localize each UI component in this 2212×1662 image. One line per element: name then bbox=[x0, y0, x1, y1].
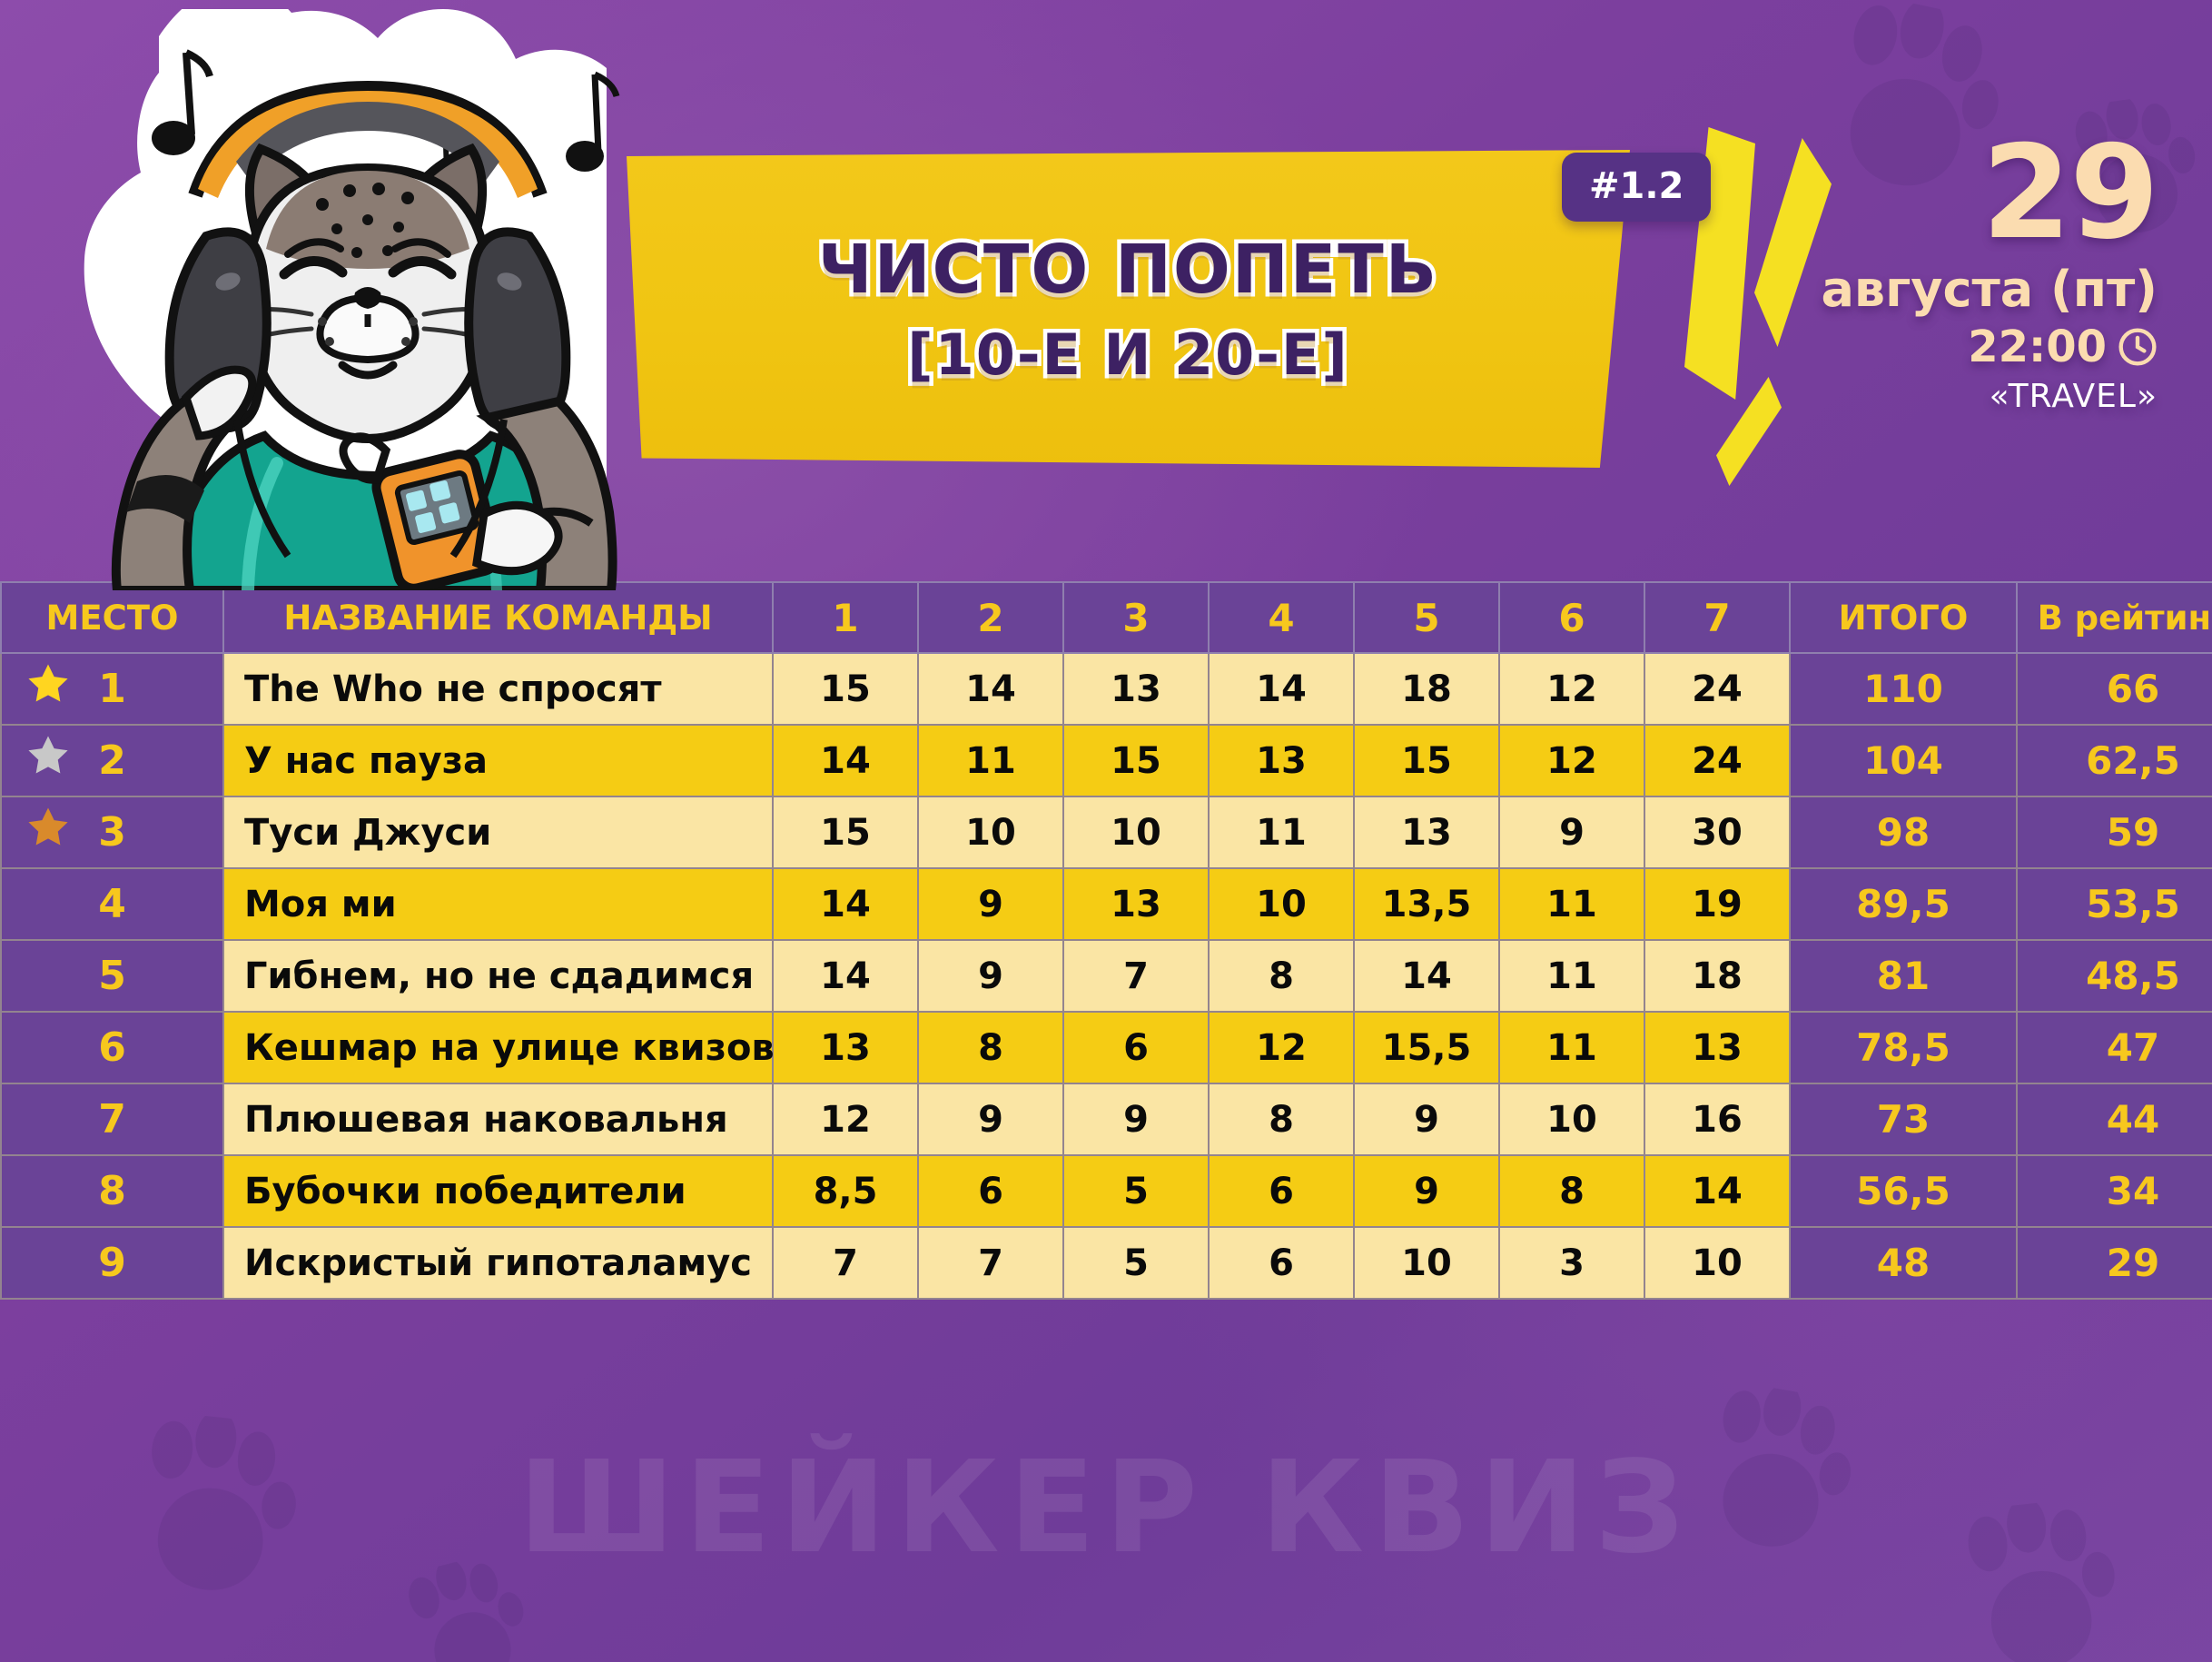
cell-total: 48 bbox=[1790, 1227, 2017, 1299]
cell-round-6-score: 3 bbox=[1499, 1227, 1644, 1299]
cell-round-3-score: 5 bbox=[1063, 1155, 1209, 1227]
cell-team-name: Плюшевая наковальня bbox=[223, 1083, 773, 1155]
cell-total: 56,5 bbox=[1790, 1155, 2017, 1227]
cell-round-1-score: 8,5 bbox=[773, 1155, 918, 1227]
cell-round-7-score: 18 bbox=[1644, 940, 1790, 1012]
table-header: МЕСТО НАЗВАНИЕ КОМАНДЫ 1 2 3 4 5 6 7 ИТО… bbox=[1, 582, 2212, 653]
cell-team-name: Кешмар на улице квизов bbox=[223, 1012, 773, 1083]
cell-round-6-score: 11 bbox=[1499, 1012, 1644, 1083]
cell-round-3-score: 13 bbox=[1063, 653, 1209, 725]
event-day: 29 bbox=[1821, 132, 2158, 255]
cell-round-5-score: 14 bbox=[1354, 940, 1499, 1012]
cell-round-3-score: 7 bbox=[1063, 940, 1209, 1012]
cell-round-3-score: 6 bbox=[1063, 1012, 1209, 1083]
event-time-row: 22:00 bbox=[1821, 322, 2158, 372]
poster-header: ЧИСТО ПОПЕТЬ [10-Е И 20-Е] #1.2 29 авгус… bbox=[0, 0, 2212, 581]
event-date-block: 29 августа (пт) 22:00 «TRAVEL» bbox=[1821, 132, 2158, 415]
page-title: ЧИСТО ПОПЕТЬ bbox=[818, 231, 1438, 309]
col-header-rating: В рейтинг bbox=[2017, 582, 2212, 653]
cell-round-7-score: 19 bbox=[1644, 868, 1790, 940]
place-number: 7 bbox=[98, 1096, 126, 1143]
cell-round-4-score: 10 bbox=[1209, 868, 1354, 940]
cell-round-6-score: 12 bbox=[1499, 725, 1644, 796]
cell-round-4-score: 8 bbox=[1209, 1083, 1354, 1155]
col-header-round-6: 6 bbox=[1499, 582, 1644, 653]
cell-round-1-score: 14 bbox=[773, 868, 918, 940]
cell-rating: 29 bbox=[2017, 1227, 2212, 1299]
header-row: МЕСТО НАЗВАНИЕ КОМАНДЫ 1 2 3 4 5 6 7 ИТО… bbox=[1, 582, 2212, 653]
place-number: 3 bbox=[98, 809, 126, 856]
col-header-team: НАЗВАНИЕ КОМАНДЫ bbox=[223, 582, 773, 653]
cell-round-5-score: 15,5 bbox=[1354, 1012, 1499, 1083]
cell-total: 89,5 bbox=[1790, 868, 2017, 940]
place-number: 8 bbox=[98, 1168, 126, 1214]
event-time: 22:00 bbox=[1968, 322, 2107, 372]
cell-total: 81 bbox=[1790, 940, 2017, 1012]
cell-round-4-score: 11 bbox=[1209, 796, 1354, 868]
table-row: 3Туси Джуси15101011139309859 bbox=[1, 796, 2212, 868]
col-header-total: ИТОГО bbox=[1790, 582, 2017, 653]
cell-round-7-score: 14 bbox=[1644, 1155, 1790, 1227]
cell-round-2-score: 7 bbox=[918, 1227, 1063, 1299]
cell-place: 5 bbox=[1, 940, 223, 1012]
cell-team-name: Бубочки победители bbox=[223, 1155, 773, 1227]
cell-round-1-score: 14 bbox=[773, 725, 918, 796]
cell-place: 6 bbox=[1, 1012, 223, 1083]
cell-team-name: Искристый гипоталамус bbox=[223, 1227, 773, 1299]
cell-round-6-score: 9 bbox=[1499, 796, 1644, 868]
table-row: 7Плюшевая наковальня12998910167344 bbox=[1, 1083, 2212, 1155]
title-banner-content: ЧИСТО ПОПЕТЬ [10-Е И 20-Е] bbox=[627, 150, 1630, 468]
cell-round-5-score: 9 bbox=[1354, 1155, 1499, 1227]
cell-round-5-score: 15 bbox=[1354, 725, 1499, 796]
cell-round-1-score: 7 bbox=[773, 1227, 918, 1299]
col-header-round-3: 3 bbox=[1063, 582, 1209, 653]
table-row: 6Кешмар на улице квизов13861215,5111378,… bbox=[1, 1012, 2212, 1083]
table-body: 1The Who не спросят15141314181224110662У… bbox=[1, 653, 2212, 1299]
cell-team-name: The Who не спросят bbox=[223, 653, 773, 725]
place-number: 1 bbox=[98, 666, 126, 712]
cell-round-4-score: 8 bbox=[1209, 940, 1354, 1012]
cell-total: 110 bbox=[1790, 653, 2017, 725]
event-month: августа (пт) bbox=[1821, 261, 2158, 318]
cell-rating: 53,5 bbox=[2017, 868, 2212, 940]
cell-round-7-score: 10 bbox=[1644, 1227, 1790, 1299]
game-number-badge: #1.2 bbox=[1562, 153, 1711, 222]
clock-icon bbox=[2118, 327, 2158, 367]
cell-team-name: У нас пауза bbox=[223, 725, 773, 796]
cell-round-7-score: 13 bbox=[1644, 1012, 1790, 1083]
cell-round-5-score: 9 bbox=[1354, 1083, 1499, 1155]
cell-round-2-score: 9 bbox=[918, 940, 1063, 1012]
place-number: 4 bbox=[98, 881, 126, 927]
cell-round-7-score: 30 bbox=[1644, 796, 1790, 868]
cat-mascot-icon bbox=[50, 9, 686, 590]
cell-place: 1 bbox=[1, 653, 223, 725]
place-number: 6 bbox=[98, 1024, 126, 1071]
cell-round-3-score: 10 bbox=[1063, 796, 1209, 868]
cell-round-2-score: 6 bbox=[918, 1155, 1063, 1227]
cell-round-3-score: 9 bbox=[1063, 1083, 1209, 1155]
cell-place: 3 bbox=[1, 796, 223, 868]
medal-star-icon bbox=[24, 803, 73, 862]
cell-round-2-score: 11 bbox=[918, 725, 1063, 796]
cell-round-5-score: 13,5 bbox=[1354, 868, 1499, 940]
medal-star-icon bbox=[24, 731, 73, 790]
cell-round-1-score: 13 bbox=[773, 1012, 918, 1083]
cell-place: 7 bbox=[1, 1083, 223, 1155]
cell-round-6-score: 10 bbox=[1499, 1083, 1644, 1155]
cell-round-6-score: 12 bbox=[1499, 653, 1644, 725]
cell-total: 78,5 bbox=[1790, 1012, 2017, 1083]
cell-team-name: Туси Джуси bbox=[223, 796, 773, 868]
place-number: 2 bbox=[98, 737, 126, 784]
cell-round-4-score: 6 bbox=[1209, 1227, 1354, 1299]
cell-round-2-score: 8 bbox=[918, 1012, 1063, 1083]
cell-round-5-score: 18 bbox=[1354, 653, 1499, 725]
col-header-round-7: 7 bbox=[1644, 582, 1790, 653]
cell-rating: 62,5 bbox=[2017, 725, 2212, 796]
cell-rating: 47 bbox=[2017, 1012, 2212, 1083]
cell-total: 73 bbox=[1790, 1083, 2017, 1155]
col-header-round-1: 1 bbox=[773, 582, 918, 653]
col-header-place: МЕСТО bbox=[1, 582, 223, 653]
cell-round-3-score: 15 bbox=[1063, 725, 1209, 796]
cell-place: 8 bbox=[1, 1155, 223, 1227]
cell-round-7-score: 24 bbox=[1644, 653, 1790, 725]
cell-place: 4 bbox=[1, 868, 223, 940]
cell-round-6-score: 11 bbox=[1499, 940, 1644, 1012]
cell-team-name: Гибнем, но не сдадимся bbox=[223, 940, 773, 1012]
table-row: 1The Who не спросят1514131418122411066 bbox=[1, 653, 2212, 725]
cell-round-5-score: 10 bbox=[1354, 1227, 1499, 1299]
cell-rating: 34 bbox=[2017, 1155, 2212, 1227]
table-row: 4Моя ми149131013,5111989,553,5 bbox=[1, 868, 2212, 940]
cell-round-4-score: 14 bbox=[1209, 653, 1354, 725]
cell-round-1-score: 12 bbox=[773, 1083, 918, 1155]
cell-round-2-score: 9 bbox=[918, 1083, 1063, 1155]
page-subtitle: [10-Е И 20-Е] bbox=[907, 322, 1348, 388]
col-header-round-4: 4 bbox=[1209, 582, 1354, 653]
table-row: 5Гибнем, но не сдадимся149781411188148,5 bbox=[1, 940, 2212, 1012]
brand-watermark: ШЕЙКЕР КВИЗ bbox=[0, 1434, 2212, 1582]
medal-star-icon bbox=[24, 659, 73, 718]
scoreboard: МЕСТО НАЗВАНИЕ КОМАНДЫ 1 2 3 4 5 6 7 ИТО… bbox=[0, 581, 2212, 1300]
cell-round-2-score: 9 bbox=[918, 868, 1063, 940]
cell-place: 2 bbox=[1, 725, 223, 796]
cell-round-7-score: 24 bbox=[1644, 725, 1790, 796]
place-number: 5 bbox=[98, 953, 126, 999]
cell-place: 9 bbox=[1, 1227, 223, 1299]
cell-round-1-score: 14 bbox=[773, 940, 918, 1012]
col-header-round-2: 2 bbox=[918, 582, 1063, 653]
poster-root: ШЕЙКЕР КВИЗ bbox=[0, 0, 2212, 1662]
cell-rating: 44 bbox=[2017, 1083, 2212, 1155]
cell-round-4-score: 12 bbox=[1209, 1012, 1354, 1083]
table-row: 9Искристый гипоталамус7756103104829 bbox=[1, 1227, 2212, 1299]
cell-round-1-score: 15 bbox=[773, 653, 918, 725]
cell-round-6-score: 8 bbox=[1499, 1155, 1644, 1227]
cell-round-1-score: 15 bbox=[773, 796, 918, 868]
table-row: 8Бубочки победители8,5656981456,534 bbox=[1, 1155, 2212, 1227]
cell-round-6-score: 11 bbox=[1499, 868, 1644, 940]
cell-rating: 59 bbox=[2017, 796, 2212, 868]
cell-round-7-score: 16 bbox=[1644, 1083, 1790, 1155]
col-header-round-5: 5 bbox=[1354, 582, 1499, 653]
table-row: 2У нас пауза1411151315122410462,5 bbox=[1, 725, 2212, 796]
cell-round-3-score: 5 bbox=[1063, 1227, 1209, 1299]
event-venue: «TRAVEL» bbox=[1821, 378, 2158, 415]
cell-round-4-score: 13 bbox=[1209, 725, 1354, 796]
cell-team-name: Моя ми bbox=[223, 868, 773, 940]
cell-round-4-score: 6 bbox=[1209, 1155, 1354, 1227]
cell-rating: 48,5 bbox=[2017, 940, 2212, 1012]
cell-round-2-score: 10 bbox=[918, 796, 1063, 868]
cell-round-2-score: 14 bbox=[918, 653, 1063, 725]
cell-total: 98 bbox=[1790, 796, 2017, 868]
cell-round-3-score: 13 bbox=[1063, 868, 1209, 940]
place-number: 9 bbox=[98, 1240, 126, 1286]
cell-total: 104 bbox=[1790, 725, 2017, 796]
cell-rating: 66 bbox=[2017, 653, 2212, 725]
cell-round-5-score: 13 bbox=[1354, 796, 1499, 868]
scoreboard-table: МЕСТО НАЗВАНИЕ КОМАНДЫ 1 2 3 4 5 6 7 ИТО… bbox=[0, 581, 2212, 1300]
